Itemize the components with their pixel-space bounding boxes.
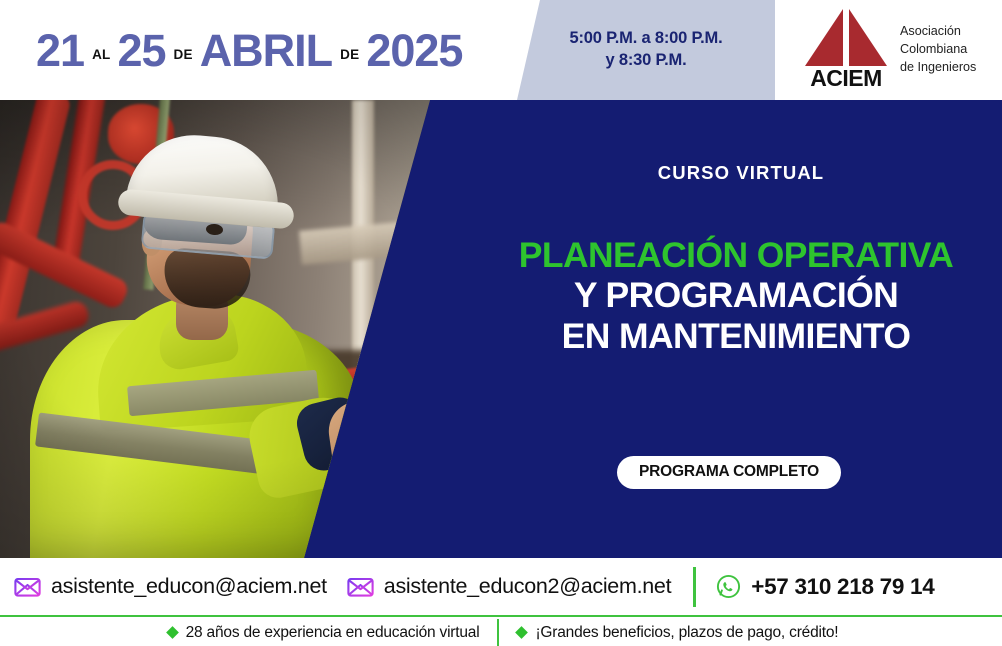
benefit-item-1-text: 28 años de experiencia en educación virt… [186, 624, 480, 642]
schedule-line-2: y 8:30 P.M. [606, 50, 687, 72]
envelope-icon [347, 576, 374, 597]
contact-email-1-text: asistente_educon@aciem.net [51, 574, 327, 599]
date-year: 2025 [366, 28, 462, 73]
schedule-text: 5:00 P.M. a 8:00 P.M. y 8:30 P.M. [517, 0, 775, 100]
benefit-item-1: 28 años de experiencia en educación virt… [168, 624, 480, 642]
date-day-end: 25 [117, 28, 165, 73]
schedule-line-1: 5:00 P.M. a 8:00 P.M. [570, 28, 723, 50]
date-month: ABRIL [200, 28, 332, 73]
course-title-line-2: Y PROGRAMACIÓN [470, 275, 1002, 315]
aciem-subtitle: Asociación Colombiana de Ingenieros [900, 23, 976, 77]
course-title-line-1: PLANEACIÓN OPERATIVA [470, 235, 1002, 275]
diamond-bullet-icon [516, 626, 529, 639]
triangle-left-half [805, 9, 843, 66]
header-bar: 21 AL 25 DE ABRIL DE 2025 5:00 P.M. a 8:… [0, 0, 1002, 100]
aciem-logo: ACIEM Asociación Colombiana de Ingeniero… [805, 9, 976, 91]
aciem-wordmark: ACIEM [805, 67, 887, 90]
schedule-block: 5:00 P.M. a 8:00 P.M. y 8:30 P.M. [517, 0, 775, 100]
contact-email-2-text: asistente_educon2@aciem.net [384, 574, 671, 599]
contact-email-1[interactable]: asistente_educon@aciem.net [14, 574, 327, 599]
envelope-icon [14, 576, 41, 597]
yellow-pipe-elbow [397, 276, 465, 307]
main-panel: CURSO VIRTUAL PLANEACIÓN OPERATIVA Y PRO… [0, 100, 1002, 558]
course-title: PLANEACIÓN OPERATIVA Y PROGRAMACIÓN EN M… [470, 235, 1002, 356]
event-date: 21 AL 25 DE ABRIL DE 2025 [36, 0, 462, 100]
date-connector-de-2: DE [340, 48, 359, 62]
programa-completo-badge[interactable]: PROGRAMA COMPLETO [617, 456, 841, 489]
cardboard-tube [350, 353, 484, 417]
course-kicker: CURSO VIRTUAL [480, 162, 1002, 184]
promo-banner: 21 AL 25 DE ABRIL DE 2025 5:00 P.M. a 8:… [0, 0, 1002, 646]
triangle-right-half [849, 9, 887, 66]
date-connector-al: AL [92, 48, 110, 62]
course-title-line-3: EN MANTENIMIENTO [470, 316, 1002, 356]
benefits-strip: 28 años de experiencia en educación virt… [0, 615, 1002, 646]
worker-photo [0, 100, 540, 558]
whatsapp-icon [716, 574, 741, 599]
contact-divider [693, 567, 696, 607]
yellow-pipe [437, 100, 464, 558]
contact-email-2[interactable]: asistente_educon2@aciem.net [347, 574, 671, 599]
benefit-item-2-text: ¡Grandes beneficios, plazos de pago, cré… [535, 624, 838, 642]
photo-vignette [0, 100, 540, 558]
date-day-start: 21 [36, 28, 84, 73]
benefit-item-2: ¡Grandes beneficios, plazos de pago, cré… [517, 624, 838, 642]
benefits-divider [497, 619, 499, 646]
contact-phone-text: +57 310 218 79 14 [751, 574, 934, 600]
aciem-triangle-icon: ACIEM [805, 9, 887, 91]
contact-whatsapp[interactable]: +57 310 218 79 14 [716, 574, 934, 600]
date-connector-de-1: DE [174, 48, 193, 62]
contact-bar: asistente_educon@aciem.net asistente_edu [0, 558, 1002, 615]
diamond-bullet-icon [166, 626, 179, 639]
